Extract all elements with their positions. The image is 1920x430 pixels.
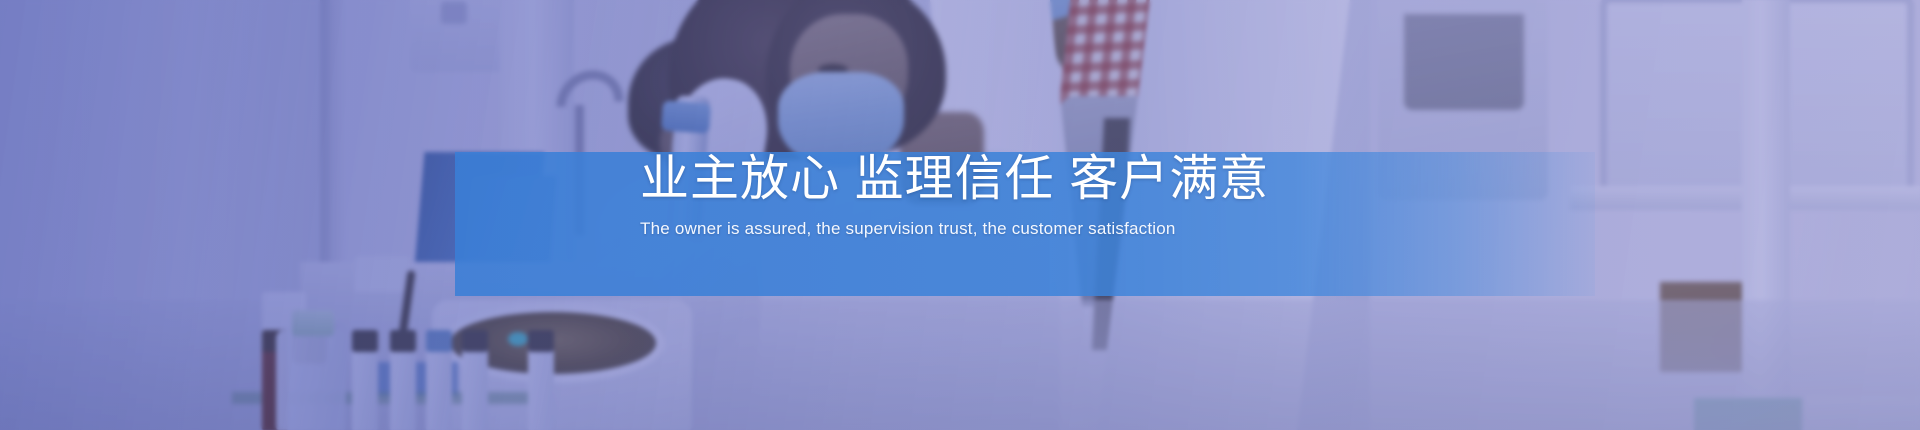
caption-block: 业主放心 监理信任 客户满意 The owner is assured, the… — [640, 150, 1700, 241]
subheadline-text: The owner is assured, the supervision tr… — [640, 217, 1700, 241]
specimen-vial — [426, 348, 452, 430]
pipette-collar — [661, 100, 711, 133]
cabinet-handle — [441, 2, 467, 24]
doorway-shadow — [1404, 14, 1524, 110]
wall-outlet-upper — [354, 256, 410, 292]
specimen-vial — [528, 348, 554, 430]
faucet-stem — [575, 105, 584, 235]
specimen-vial — [352, 348, 378, 430]
headline-text: 业主放心 监理信任 客户满意 — [640, 150, 1700, 208]
hero-banner: 业主放心 监理信任 客户满意 The owner is assured, the… — [0, 0, 1920, 430]
specimen-vial — [462, 348, 488, 430]
reagent-bottle — [276, 330, 346, 430]
specimen-vial — [390, 348, 416, 430]
centrifuge-indicator — [508, 332, 528, 346]
reagent-bottle-cap — [292, 310, 334, 336]
